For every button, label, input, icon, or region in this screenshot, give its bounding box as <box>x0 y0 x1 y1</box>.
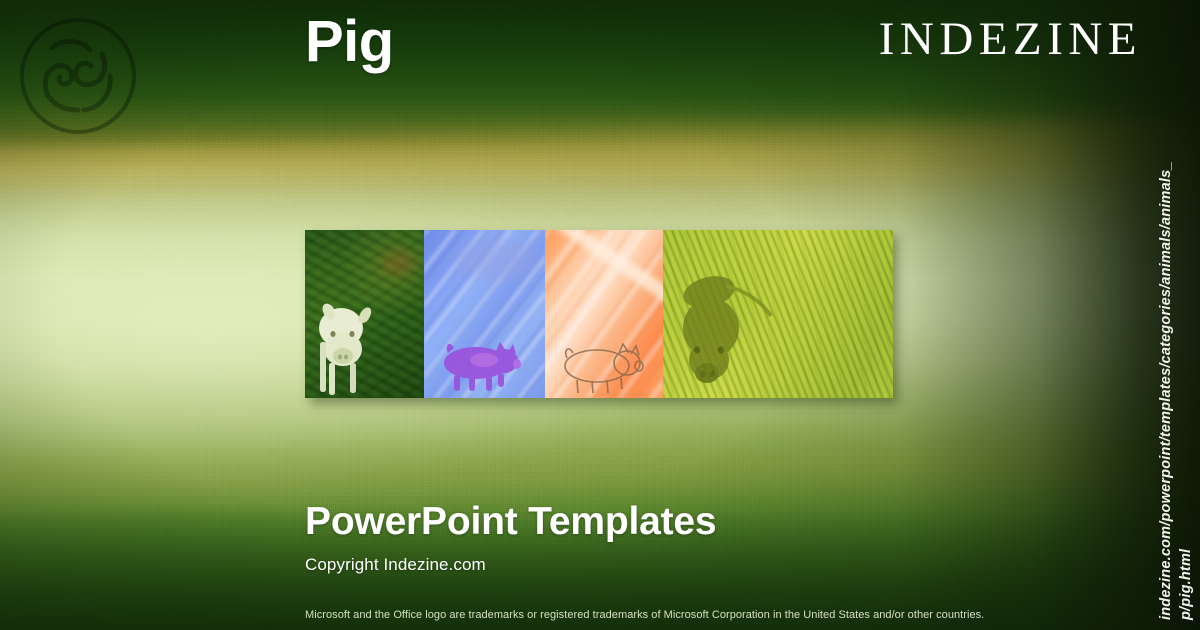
slide-canvas: Pig INDEZINE <box>0 0 1200 630</box>
thumbnail-piglet-on-green-foliage[interactable] <box>305 230 424 398</box>
footer-copyright: Copyright Indezine.com <box>305 555 486 575</box>
vertical-url-line-1: indezine.com/powerpoint/templates/catego… <box>1158 161 1174 620</box>
celtic-spiral-watermark <box>16 14 140 138</box>
vertical-url-line-2: p/pig.html <box>1178 549 1194 620</box>
thumbnail-outlined-pig-on-orange-watercolor[interactable] <box>545 230 663 398</box>
footer-title: PowerPoint Templates <box>305 500 716 544</box>
outlined-pig-illustration <box>545 230 663 398</box>
thumbnail-purple-pig-on-blue-watercolor[interactable] <box>424 230 545 398</box>
footer-disclaimer: Microsoft and the Office logo are tradem… <box>305 609 984 621</box>
pig-head-illustration <box>663 230 893 398</box>
piglet-illustration <box>305 230 424 398</box>
page-title: Pig <box>305 12 394 73</box>
brand-logo: INDEZINE <box>879 16 1142 63</box>
thumbnail-pig-head-on-yellow-green-grass[interactable] <box>663 230 893 398</box>
vertical-url: indezine.com/powerpoint/templates/catego… <box>1152 0 1200 630</box>
template-thumbnail-strip <box>305 230 893 398</box>
purple-pig-illustration <box>424 230 545 398</box>
